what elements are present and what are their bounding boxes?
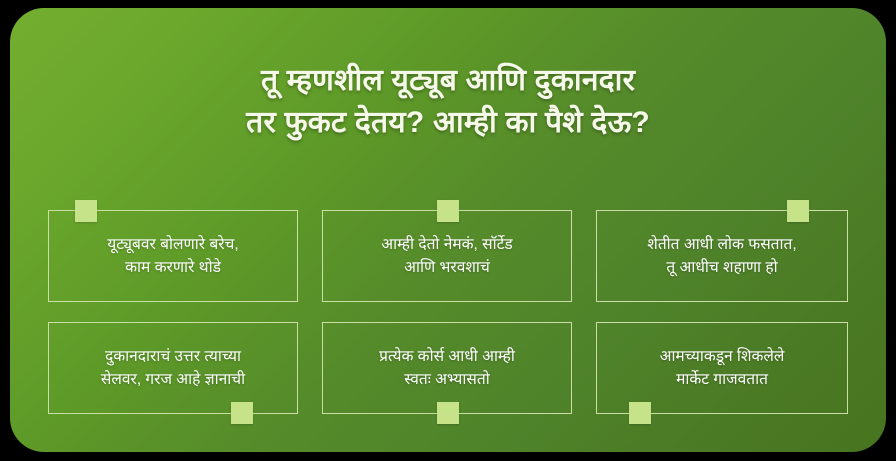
accent-square-icon (437, 200, 459, 222)
benefit-card-3: शेतीत आधी लोक फसतात, तू आधीच शहाणा हो (596, 210, 848, 302)
benefit-card-2-line-2: आणि भरवशाचं (404, 259, 490, 276)
benefit-card-4-line-2: सेलवर, गरज आहे ज्ञानाची (101, 371, 245, 388)
benefit-card-3-line-1: शेतीत आधी लोक फसतात, (647, 236, 796, 253)
heading-line-2: तर फुकट देतय? आम्ही का पैशे देऊ? (10, 102, 886, 144)
benefit-card-4: दुकानदाराचं उत्तर त्याच्या सेलवर, गरज आह… (48, 322, 298, 414)
benefit-card-1-line-2: काम करणारे थोडे (125, 259, 221, 276)
accent-square-icon (437, 402, 459, 424)
accent-square-icon (231, 402, 253, 424)
benefit-card-6-line-1: आमच्याकडून शिकलेले (660, 348, 785, 365)
benefit-card-4-text: दुकानदाराचं उत्तर त्याच्या सेलवर, गरज आह… (101, 345, 245, 391)
benefit-card-5-line-2: स्वतः अभ्यासतो (404, 371, 490, 388)
benefit-card-grid: यूट्यूबवर बोलणारे बरेच, काम करणारे थोडे … (48, 203, 848, 418)
benefit-card-6: आमच्याकडून शिकलेले मार्केट गाजवतात (596, 322, 848, 414)
benefit-card-5-line-1: प्रत्येक कोर्स आधी आम्ही (379, 348, 515, 365)
card-row-top: यूट्यूबवर बोलणारे बरेच, काम करणारे थोडे … (48, 210, 848, 302)
poster-heading: तू म्हणशील यूट्यूब आणि दुकानदार तर फुकट … (10, 60, 886, 144)
benefit-card-4-line-1: दुकानदाराचं उत्तर त्याच्या (105, 348, 241, 365)
benefit-card-6-text: आमच्याकडून शिकलेले मार्केट गाजवतात (660, 345, 785, 391)
accent-square-icon (75, 200, 97, 222)
accent-square-icon (787, 200, 809, 222)
promo-poster: तू म्हणशील यूट्यूब आणि दुकानदार तर फुकट … (10, 8, 886, 452)
benefit-card-1-text: यूट्यूबवर बोलणारे बरेच, काम करणारे थोडे (107, 233, 238, 279)
benefit-card-1: यूट्यूबवर बोलणारे बरेच, काम करणारे थोडे (48, 210, 298, 302)
benefit-card-3-text: शेतीत आधी लोक फसतात, तू आधीच शहाणा हो (647, 233, 796, 279)
accent-square-icon (629, 402, 651, 424)
benefit-card-3-line-2: तू आधीच शहाणा हो (666, 259, 777, 276)
card-row-bottom: दुकानदाराचं उत्तर त्याच्या सेलवर, गरज आह… (48, 322, 848, 414)
benefit-card-1-line-1: यूट्यूबवर बोलणारे बरेच, (107, 236, 238, 253)
benefit-card-5: प्रत्येक कोर्स आधी आम्ही स्वतः अभ्यासतो (322, 322, 572, 414)
benefit-card-5-text: प्रत्येक कोर्स आधी आम्ही स्वतः अभ्यासतो (379, 345, 515, 391)
benefit-card-2-line-1: आम्ही देतो नेमकं, सॉर्टेड (381, 236, 512, 253)
benefit-card-6-line-2: मार्केट गाजवतात (676, 371, 768, 388)
heading-line-1: तू म्हणशील यूट्यूब आणि दुकानदार (10, 60, 886, 102)
benefit-card-2-text: आम्ही देतो नेमकं, सॉर्टेड आणि भरवशाचं (381, 233, 512, 279)
benefit-card-2: आम्ही देतो नेमकं, सॉर्टेड आणि भरवशाचं (322, 210, 572, 302)
